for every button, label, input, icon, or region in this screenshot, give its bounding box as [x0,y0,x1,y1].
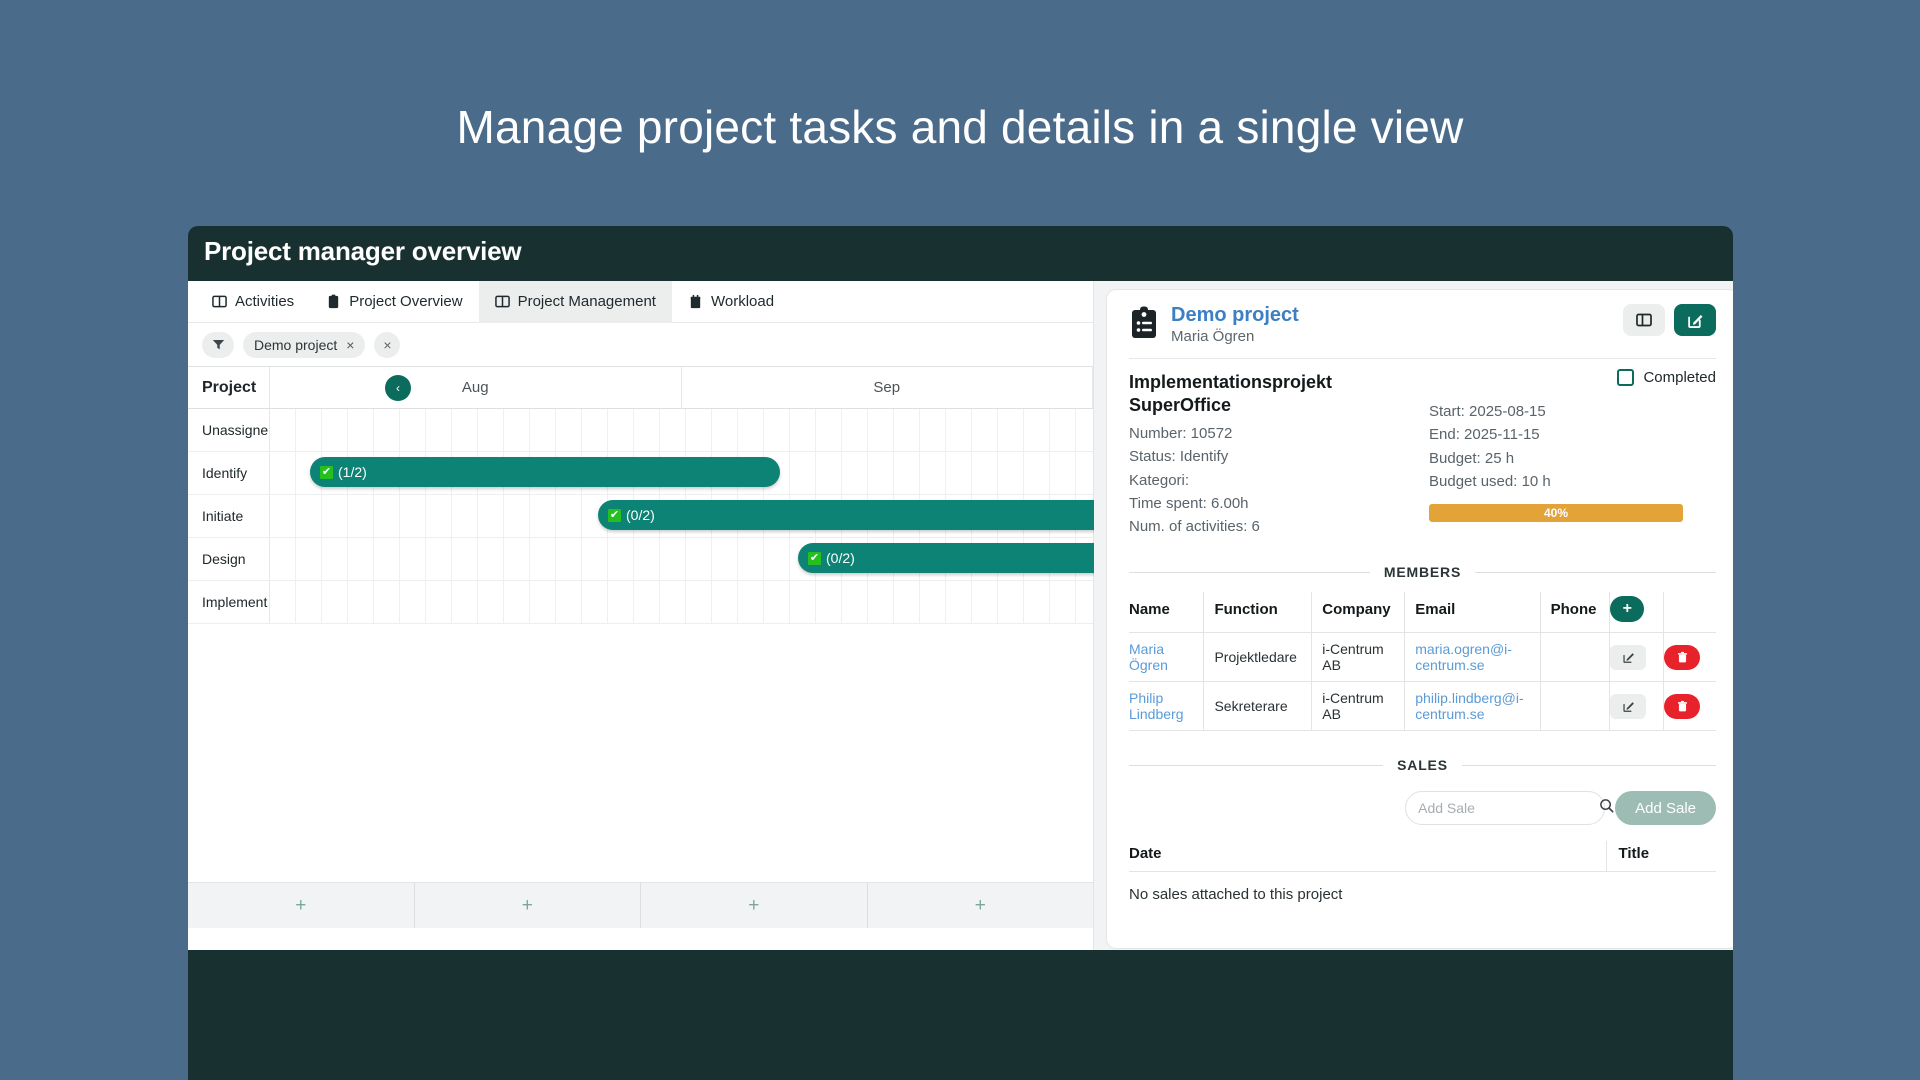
gantt-bar[interactable]: ✔ (0/2) [798,543,1143,573]
app-body: Activities Project Overview Project Mana… [188,281,1733,950]
project-end: End: 2025-11-15 [1429,423,1716,446]
member-name-link[interactable]: Maria Ögren [1129,641,1168,673]
member-phone [1540,682,1610,731]
gantt-month-aug: Aug [270,367,682,408]
col-phone: Phone [1540,592,1610,633]
edit-member-button[interactable] [1610,694,1646,719]
gantt-row-track[interactable]: ✔ (1/2) [270,452,1093,494]
member-edit-cell [1610,633,1664,682]
sales-section-divider: SALES [1129,757,1716,773]
clipboard-icon [1129,306,1159,340]
gantt-row-label: Identify [188,452,270,494]
tab-label: Workload [711,293,774,310]
filter-bar: Demo project × × [188,323,1093,367]
member-name: Philip Lindberg [1129,682,1204,731]
col-email: Email [1405,592,1540,633]
detail-title-group: Demo project Maria Ögren [1171,304,1611,345]
member-name-link[interactable]: Philip Lindberg [1129,690,1184,722]
gantt-row-label: Unassigne [188,409,270,451]
check-icon: ✔ [320,466,333,479]
filter-chip-demo-project[interactable]: Demo project × [243,332,365,358]
gantt-bar[interactable]: ✔ (0/2) [598,500,1143,530]
gantt-bar-label: (0/2) [626,507,655,523]
gantt-row: Unassigne [188,409,1093,452]
member-name: Maria Ögren [1129,633,1204,682]
clear-filters-icon[interactable]: × [374,332,400,358]
gantt-row-track[interactable] [270,409,1093,451]
divider-line-left [1129,765,1383,766]
sales-header-row: Date Title [1129,841,1716,872]
split-view-button[interactable] [1623,304,1665,336]
gantt-month-sep: Sep [682,367,1094,408]
sales-search-field[interactable] [1405,791,1605,825]
members-section-label: MEMBERS [1384,564,1461,580]
divider-line-left [1129,572,1370,573]
sales-section-label: SALES [1397,757,1448,773]
member-email-link[interactable]: philip.lindberg@i-centrum.se [1415,690,1523,722]
gantt-row-track[interactable] [270,581,1093,623]
project-start: Start: 2025-08-15 [1429,400,1716,423]
table-row: Maria Ögren Projektledare i-Centrum AB m… [1129,633,1716,682]
table-row: Philip Lindberg Sekreterare i-Centrum AB… [1129,682,1716,731]
member-email: maria.ogren@i-centrum.se [1405,633,1540,682]
col-function: Function [1204,592,1312,633]
budget-progress-bar: 40% [1429,504,1683,522]
gantt-bar-label: (0/2) [826,550,855,566]
columns-icon [495,294,510,309]
gantt-row: Implement [188,581,1093,624]
gantt-add-row: + + + + [188,882,1093,928]
project-budget-used: Budget used: 10 h [1429,470,1716,493]
project-number: Number: 10572 [1129,422,1429,445]
gantt-row-label: Initiate [188,495,270,537]
check-icon: ✔ [608,509,621,522]
gantt-bar-label: (1/2) [338,464,367,480]
edit-member-button[interactable] [1610,645,1646,670]
tab-label: Project Management [518,293,656,310]
budget-progress-label: 40% [1544,506,1568,520]
project-status: Status: Identify [1129,445,1429,468]
tab-label: Activities [235,293,294,310]
member-company: i-Centrum AB [1312,682,1405,731]
gantt-bar[interactable]: ✔ (1/2) [310,457,780,487]
columns-icon [212,294,227,309]
gantt-project-column-header: Project [188,367,270,408]
project-time-spent: Time spent: 6.00h [1129,492,1429,515]
members-table: Name Function Company Email Phone + [1129,592,1716,731]
gantt-rows: Unassigne Identify ✔ (1/2) Initiate [188,409,1093,624]
app-window: Project manager overview Activities Proj… [188,226,1733,1080]
tab-label: Project Overview [349,293,462,310]
funnel-icon[interactable] [202,332,234,358]
delete-member-button[interactable] [1664,645,1700,670]
project-link[interactable]: Demo project [1171,304,1611,327]
member-company: i-Centrum AB [1312,633,1405,682]
member-delete-cell [1664,633,1716,682]
project-info: Implementationsprojekt SuperOffice Numbe… [1129,359,1716,538]
gantt-empty-area [188,624,1093,882]
project-info-right: Start: 2025-08-15 End: 2025-11-15 Budget… [1429,371,1716,538]
gantt-prev-button[interactable]: ‹ [385,375,411,401]
gantt-row: Initiate ✔ (0/2) [188,495,1093,538]
col-name: Name [1129,592,1204,633]
window-title: Project manager overview [188,226,1733,278]
member-delete-cell [1664,682,1716,731]
tab-project-management[interactable]: Project Management [479,281,672,323]
detail-pane: Demo project Maria Ögren Implem [1094,281,1733,950]
gantt-pane: Activities Project Overview Project Mana… [188,281,1094,950]
calendar-icon [688,294,703,309]
delete-member-button[interactable] [1664,694,1700,719]
member-email: philip.lindberg@i-centrum.se [1405,682,1540,731]
checkbox-icon[interactable] [1617,369,1634,386]
chip-label: Demo project [254,337,337,353]
tab-activities[interactable]: Activities [196,281,310,323]
gantt-row-label: Design [188,538,270,580]
detail-header: Demo project Maria Ögren [1129,304,1716,359]
sales-table: Date Title [1129,841,1716,872]
sales-empty-message: No sales attached to this project [1129,872,1716,903]
add-sale-button[interactable]: Add Sale [1615,791,1716,825]
magnifier-icon [1599,798,1614,818]
completed-checkbox[interactable]: Completed [1617,369,1716,386]
member-edit-cell [1610,682,1664,731]
add-task-button[interactable]: + [868,883,1094,928]
edit-button[interactable] [1674,304,1716,336]
add-task-button[interactable]: + [415,883,642,928]
col-date: Date [1129,841,1606,872]
member-email-link[interactable]: maria.ogren@i-centrum.se [1415,641,1512,673]
gantt-row: Design ✔ (0/2) [188,538,1093,581]
add-task-button[interactable]: + [641,883,868,928]
chip-remove-icon[interactable]: × [346,337,354,353]
gantt-row-label: Implement [188,581,270,623]
gantt-row-track[interactable]: ✔ (0/2) [270,538,1093,580]
project-owner: Maria Ögren [1171,328,1611,345]
members-section-divider: MEMBERS [1129,564,1716,580]
project-info-left: Implementationsprojekt SuperOffice Numbe… [1129,371,1429,538]
check-icon: ✔ [808,552,821,565]
tab-bar: Activities Project Overview Project Mana… [188,281,1093,323]
completed-label: Completed [1643,369,1716,386]
project-num-activities: Num. of activities: 6 [1129,515,1429,538]
project-category: Kategori: [1129,469,1429,492]
page-headline: Manage project tasks and details in a si… [0,100,1920,154]
gantt-row: Identify ✔ (1/2) [188,452,1093,495]
add-task-button[interactable]: + [188,883,415,928]
sales-controls: Add Sale [1129,791,1716,825]
tab-workload[interactable]: Workload [672,281,790,323]
member-function: Sekreterare [1204,682,1312,731]
col-actions [1664,592,1716,633]
member-phone [1540,633,1610,682]
detail-actions [1623,304,1716,336]
gantt-header: Project Aug Sep ‹ [188,367,1093,409]
col-title: Title [1606,841,1716,872]
tab-project-overview[interactable]: Project Overview [310,281,478,323]
project-budget: Budget: 25 h [1429,447,1716,470]
project-title: Implementationsprojekt SuperOffice [1129,371,1389,416]
add-member-button[interactable]: + [1610,596,1644,622]
member-function: Projektledare [1204,633,1312,682]
divider-line-right [1462,765,1716,766]
col-add: + [1610,592,1664,633]
members-header-row: Name Function Company Email Phone + [1129,592,1716,633]
col-company: Company [1312,592,1405,633]
gantt-row-track[interactable]: ✔ (0/2) [270,495,1093,537]
clipboard-icon [326,294,341,309]
sales-search-input[interactable] [1418,800,1599,816]
divider-line-right [1475,572,1716,573]
project-detail-card: Demo project Maria Ögren Implem [1106,289,1733,949]
